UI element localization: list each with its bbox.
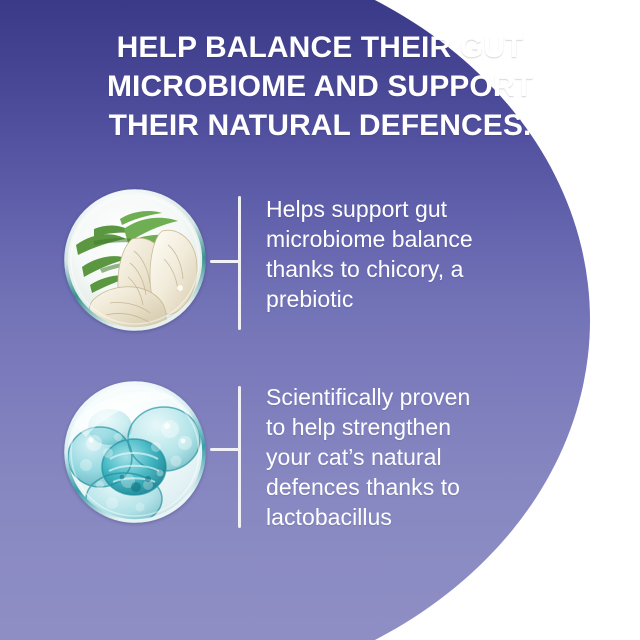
- divider-tick-1: [210, 260, 240, 263]
- benefit-description-1: Helps support gut microbiome balance tha…: [240, 189, 473, 314]
- page-title-line-2: MICROBIOME AND SUPPORT: [40, 67, 600, 106]
- benefit-1-line-3: thanks to chicory, a: [266, 254, 473, 284]
- page-title: HELP BALANCE THEIR GUT MICROBIOME AND SU…: [40, 28, 600, 145]
- divider-rule-1: [238, 196, 241, 330]
- divider-rule-2: [238, 386, 241, 528]
- page-title-line-3: THEIR NATURAL DEFENCES.: [40, 106, 600, 145]
- promo-panel: HELP BALANCE THEIR GUT MICROBIOME AND SU…: [0, 0, 640, 640]
- benefit-2-line-3: your cat’s natural: [266, 442, 470, 472]
- chicory-root-petri-dish-image: [64, 189, 206, 331]
- lactobacillus-petri-dish-image: [64, 381, 206, 523]
- benefit-description-2: Scientifically proven to help strengthen…: [240, 381, 470, 532]
- benefit-2-line-1: Scientifically proven: [266, 382, 470, 412]
- benefit-item-chicory: Helps support gut microbiome balance tha…: [64, 189, 473, 331]
- benefit-divider-2: [206, 381, 240, 532]
- benefit-2-line-2: to help strengthen: [266, 412, 470, 442]
- benefit-2-line-4: defences thanks to: [266, 472, 470, 502]
- benefit-item-lactobacillus: Scientifically proven to help strengthen…: [64, 381, 470, 532]
- benefit-1-line-2: microbiome balance: [266, 224, 473, 254]
- benefit-1-line-4: prebiotic: [266, 284, 473, 314]
- benefit-1-line-1: Helps support gut: [266, 194, 473, 224]
- page-title-line-1: HELP BALANCE THEIR GUT: [40, 28, 600, 67]
- divider-tick-2: [210, 448, 240, 451]
- benefit-2-line-5: lactobacillus: [266, 502, 470, 532]
- benefit-divider-1: [206, 189, 240, 331]
